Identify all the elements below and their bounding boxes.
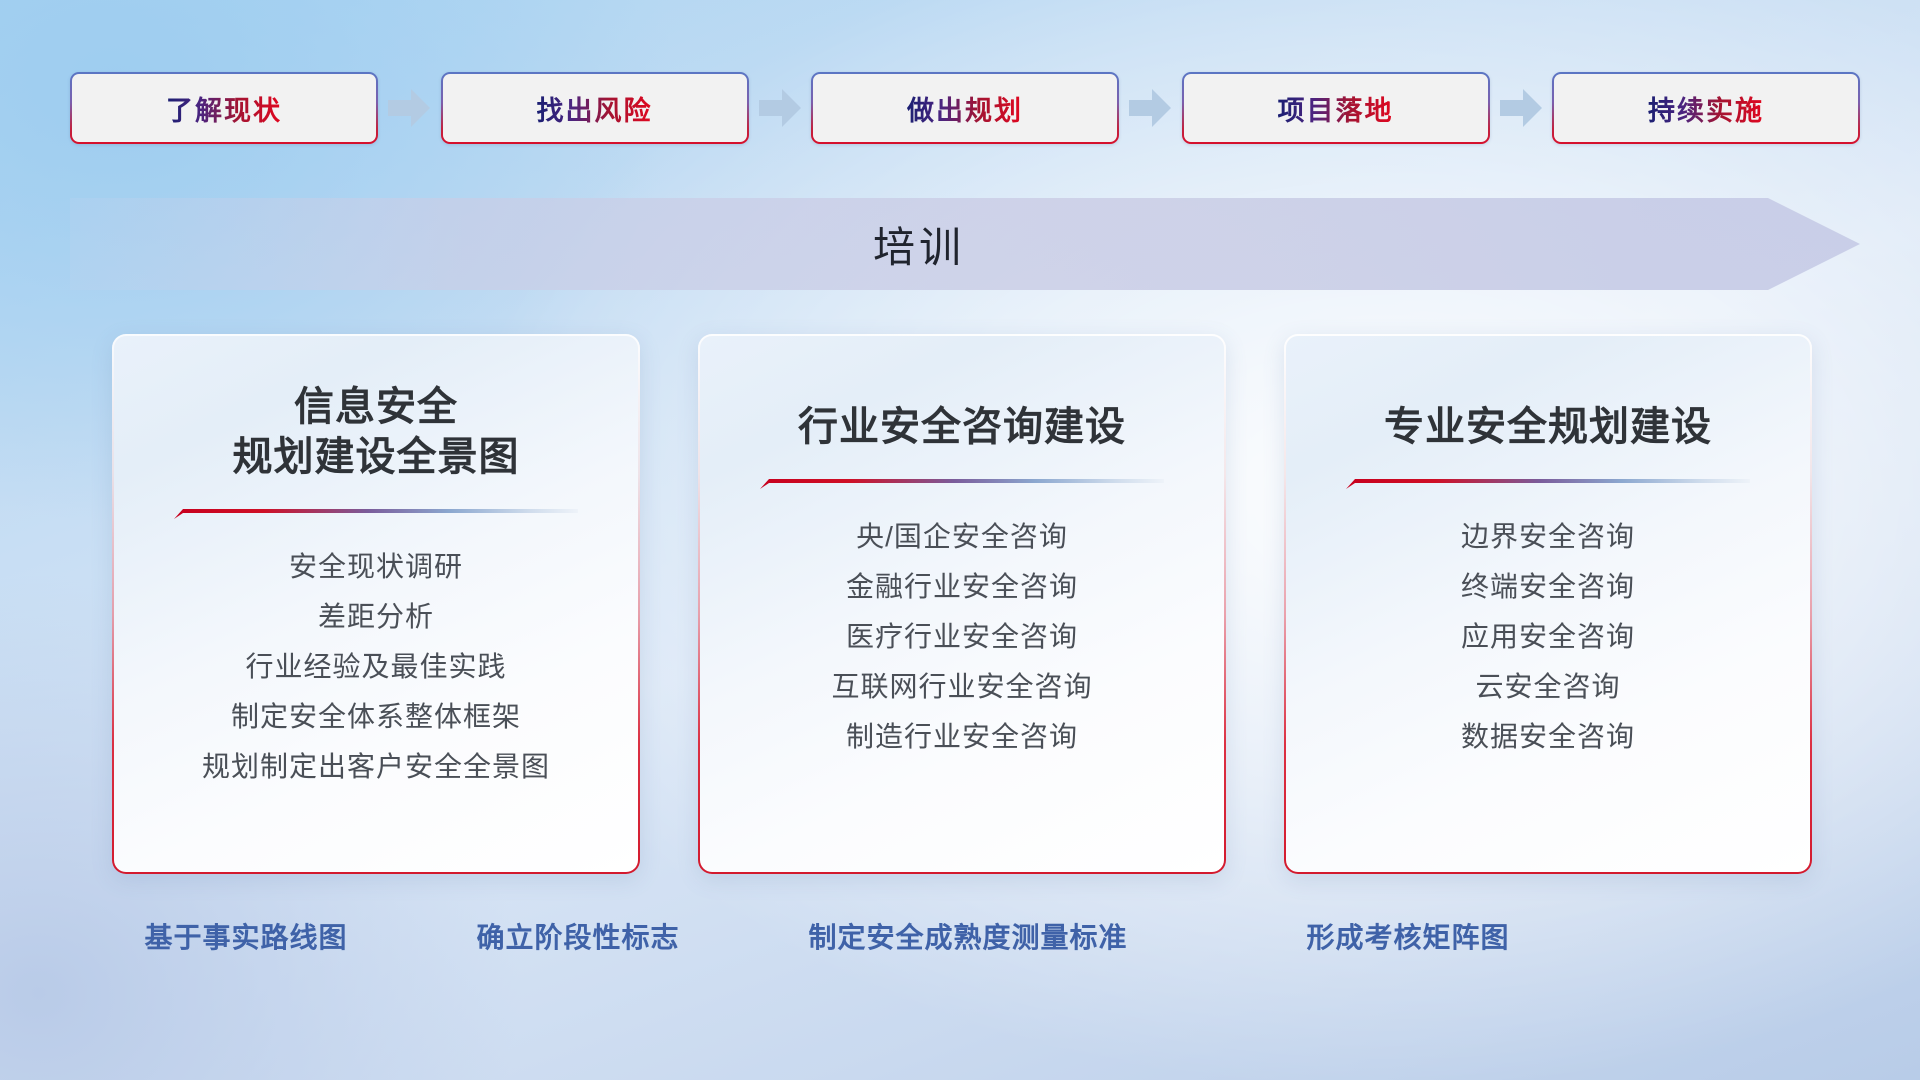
list-item: 医疗行业安全咨询 — [700, 612, 1224, 662]
slide-canvas: 了解现状 找出风险 做出规划 — [0, 0, 1920, 1080]
card-1-list: 安全现状调研 差距分析 行业经验及最佳实践 制定安全体系整体框架 规划制定出客户… — [114, 542, 638, 792]
list-item: 应用安全咨询 — [1286, 612, 1810, 662]
training-banner-title: 培训 — [70, 198, 1860, 290]
card-3-divider — [1346, 478, 1750, 490]
process-step-4-label: 项目落地 — [1278, 89, 1394, 128]
process-step-1-body: 了解现状 — [72, 74, 376, 142]
outcome-label-1: 基于事实路线图 — [144, 916, 347, 956]
card-industry-security-consulting[interactable]: 行业安全咨询建设 — [698, 334, 1226, 874]
card-2-body: 行业安全咨询建设 — [700, 336, 1224, 872]
list-item: 制造行业安全咨询 — [700, 712, 1224, 762]
card-2-list: 央/国企安全咨询 金融行业安全咨询 医疗行业安全咨询 互联网行业安全咨询 制造行… — [700, 512, 1224, 762]
list-item: 规划制定出客户安全全景图 — [114, 742, 638, 792]
list-item: 云安全咨询 — [1286, 662, 1810, 712]
process-arrow-3 — [1119, 86, 1182, 130]
card-2-title: 行业安全咨询建设 — [700, 402, 1224, 452]
process-step-5-body: 持续实施 — [1554, 74, 1858, 142]
card-3-title: 专业安全规划建设 — [1286, 402, 1810, 452]
list-item: 央/国企安全咨询 — [700, 512, 1224, 562]
card-professional-security-planning[interactable]: 专业安全规划建设 — [1284, 334, 1812, 874]
card-1-title: 信息安全 规划建设全景图 — [114, 382, 638, 482]
process-step-2-body: 找出风险 — [443, 74, 747, 142]
outcome-label-row: 基于事实路线图 确立阶段性标志 制定安全成熟度测量标准 形成考核矩阵图 — [0, 916, 1920, 964]
card-row: 信息安全 规划建设全景图 — [112, 334, 1812, 874]
card-1-divider — [174, 508, 578, 520]
card-3-list: 边界安全咨询 终端安全咨询 应用安全咨询 云安全咨询 数据安全咨询 — [1286, 512, 1810, 762]
process-step-4[interactable]: 项目落地 — [1182, 72, 1490, 144]
list-item: 终端安全咨询 — [1286, 562, 1810, 612]
outcome-label-4: 形成考核矩阵图 — [1306, 916, 1509, 956]
card-1-body: 信息安全 规划建设全景图 — [114, 336, 638, 872]
list-item: 边界安全咨询 — [1286, 512, 1810, 562]
process-step-2-label: 找出风险 — [537, 89, 653, 128]
list-item: 金融行业安全咨询 — [700, 562, 1224, 612]
list-item: 安全现状调研 — [114, 542, 638, 592]
process-step-4-body: 项目落地 — [1184, 74, 1488, 142]
process-step-3-body: 做出规划 — [813, 74, 1117, 142]
card-3-body: 专业安全规划建设 — [1286, 336, 1810, 872]
card-2-divider — [760, 478, 1164, 490]
training-banner: 培训 — [70, 198, 1860, 290]
process-arrow-2 — [749, 86, 812, 130]
outcome-label-2: 确立阶段性标志 — [476, 916, 679, 956]
process-step-1[interactable]: 了解现状 — [70, 72, 378, 144]
process-step-5[interactable]: 持续实施 — [1552, 72, 1860, 144]
list-item: 行业经验及最佳实践 — [114, 642, 638, 692]
process-step-3-label: 做出规划 — [907, 89, 1023, 128]
list-item: 差距分析 — [114, 592, 638, 642]
outcome-label-3: 制定安全成熟度测量标准 — [808, 916, 1127, 956]
process-step-3[interactable]: 做出规划 — [811, 72, 1119, 144]
process-step-row: 了解现状 找出风险 做出规划 — [70, 72, 1860, 144]
process-step-2[interactable]: 找出风险 — [441, 72, 749, 144]
process-step-1-label: 了解现状 — [166, 89, 282, 128]
process-arrow-4 — [1490, 86, 1553, 130]
process-arrow-1 — [378, 86, 441, 130]
list-item: 互联网行业安全咨询 — [700, 662, 1224, 712]
process-step-5-label: 持续实施 — [1648, 89, 1764, 128]
list-item: 制定安全体系整体框架 — [114, 692, 638, 742]
list-item: 数据安全咨询 — [1286, 712, 1810, 762]
card-information-security-blueprint[interactable]: 信息安全 规划建设全景图 — [112, 334, 640, 874]
